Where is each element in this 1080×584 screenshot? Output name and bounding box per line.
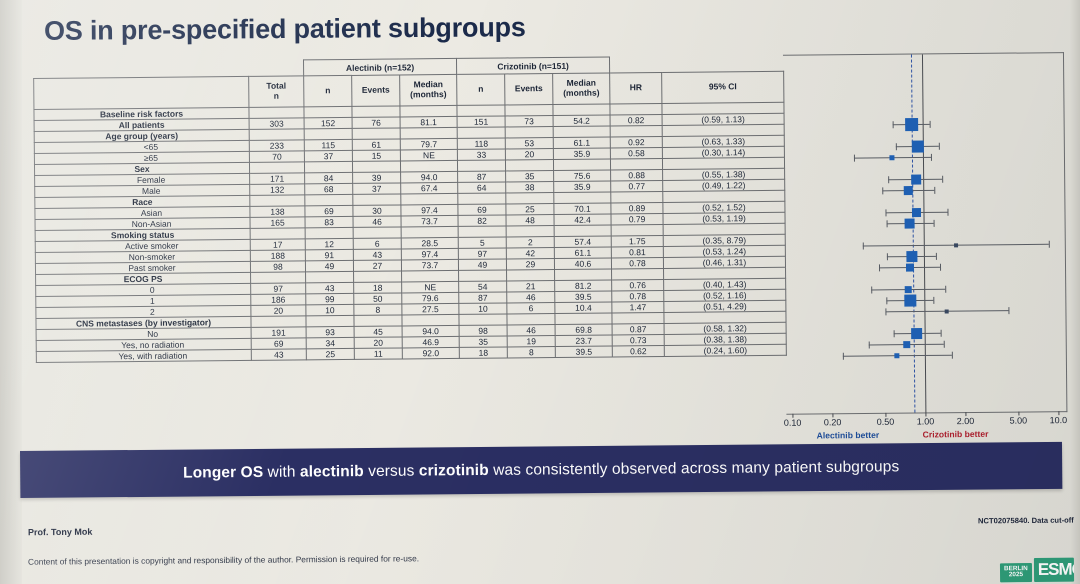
hr-header: HR [610, 72, 662, 103]
alectinib-arm-header: Alectinib (n=152) [303, 58, 456, 75]
alectinib-events-cell [352, 161, 400, 172]
hr-value-cell: 0.77 [611, 180, 663, 191]
hr-value-cell: 0.58 [610, 147, 662, 158]
alectinib-median-cell: 46.9 [402, 336, 459, 348]
alectinib-n-cell: 43 [306, 282, 354, 293]
alectinib-median-cell: 81.1 [400, 116, 457, 128]
alectinib-median-cell: 94.0 [402, 325, 459, 337]
alectinib-median-cell: NE [402, 281, 459, 293]
crizotinib-median-cell: 61.1 [553, 137, 610, 149]
ci-value-cell: (0.24, 1.60) [664, 344, 786, 356]
hr-value-cell: 0.82 [610, 114, 662, 125]
hr-value-cell: 0.73 [612, 334, 664, 345]
alectinib-events-cell: 50 [354, 293, 402, 304]
alectinib-n-header: n [304, 75, 352, 106]
crizotinib-n-cell: 69 [458, 204, 506, 215]
axis-tick-label: 1.00 [917, 416, 935, 426]
crizotinib-events-header: Events [505, 74, 553, 105]
alectinib-n-cell: 69 [305, 205, 353, 216]
alectinib-events-cell: 6 [353, 238, 401, 249]
alectinib-n-cell [304, 106, 352, 117]
hazard-ratio-marker [945, 310, 949, 314]
ci-cap-upper [935, 187, 936, 194]
alectinib-n-cell [305, 194, 353, 205]
ci-cap-lower [879, 265, 880, 272]
crizotinib-median-cell: 39.5 [555, 291, 612, 303]
total-n-cell: 171 [250, 173, 305, 185]
crizotinib-n-cell [459, 270, 507, 281]
hr-value-cell: 0.89 [611, 202, 663, 213]
berlin-2025-logo: BERLIN 2025 [1000, 563, 1032, 583]
crizotinib-median-cell: 54.2 [553, 115, 610, 127]
hazard-ratio-marker [904, 186, 913, 195]
hr-value-cell: 1.75 [611, 235, 663, 246]
hazard-ratio-marker [905, 118, 918, 131]
hr-value-cell: 1.47 [612, 301, 664, 312]
alectinib-events-cell: 45 [354, 326, 402, 337]
hr-value-cell [611, 191, 663, 202]
alectinib-n-cell [306, 271, 354, 282]
total-n-cell: 303 [249, 118, 304, 130]
alectinib-events-cell: 39 [353, 172, 401, 183]
ci-cap-lower [842, 353, 843, 360]
forest-marker-row [785, 213, 1065, 234]
crizotinib-n-header: n [457, 74, 505, 105]
crizotinib-median-cell [553, 126, 610, 138]
crizotinib-median-cell [554, 225, 611, 237]
alectinib-better-label: Alectinib better [817, 430, 880, 441]
alectinib-events-cell [354, 315, 402, 326]
alectinib-events-cell: 30 [353, 205, 401, 216]
forest-marker-row [785, 301, 1065, 322]
crizotinib-events-cell: 20 [505, 149, 553, 160]
total-n-cell: 186 [251, 294, 306, 306]
crizotinib-n-cell: 87 [459, 292, 507, 303]
alectinib-median-cell: 97.4 [401, 248, 458, 260]
crizotinib-median-cell: 10.4 [555, 302, 612, 314]
crizotinib-events-cell: 21 [507, 281, 555, 292]
total-n-cell: 188 [250, 250, 305, 262]
alectinib-n-cell [304, 128, 352, 139]
hr-value-cell: 0.88 [611, 169, 663, 180]
alectinib-median-cell: 94.0 [401, 171, 458, 183]
alectinib-median-cell [402, 270, 459, 282]
axis-tick-label: 5.00 [1010, 415, 1028, 425]
forest-marker-row [784, 147, 1064, 168]
crizotinib-n-cell: 98 [459, 325, 507, 336]
alectinib-n-cell: 83 [305, 216, 353, 227]
crizotinib-events-cell [505, 105, 553, 116]
crizotinib-events-cell: 2 [506, 237, 554, 248]
axis-tick-label: 0.50 [877, 417, 895, 427]
hr-value-cell: 0.79 [611, 213, 663, 224]
conclusion-banner: Longer OS with alectinib versus crizotin… [20, 442, 1062, 498]
total-n-header: Totaln [249, 76, 304, 108]
alectinib-median-cell: 79.6 [402, 292, 459, 304]
alectinib-events-cell: 46 [353, 216, 401, 227]
crizotinib-events-cell: 46 [507, 292, 555, 303]
crizotinib-events-cell: 38 [506, 182, 554, 193]
crizotinib-arm-header: Crizotinib (n=151) [457, 57, 610, 74]
ci-header: 95% CI [662, 71, 784, 103]
crizotinib-n-cell: 151 [457, 116, 505, 127]
crizotinib-median-cell: 61.1 [554, 247, 611, 259]
alectinib-n-cell [305, 227, 353, 238]
trial-id-footnote: NCT02075840. Data cut-off [978, 516, 1074, 526]
crizotinib-events-cell: 19 [507, 336, 555, 347]
forest-plot-area [783, 52, 1067, 415]
alectinib-events-cell [353, 227, 401, 238]
axis-tick-label: 0.10 [784, 418, 802, 428]
crizotinib-events-cell: 73 [505, 116, 553, 127]
crizotinib-n-cell: 64 [458, 182, 506, 193]
alectinib-median-cell: 28.5 [401, 237, 458, 249]
total-n-cell: 191 [251, 327, 306, 339]
alectinib-median-cell: 73.7 [401, 215, 458, 227]
crizotinib-median-cell: 35.9 [554, 181, 611, 193]
alectinib-n-cell: 37 [304, 150, 352, 161]
copyright-notice: Content of this presentation is copyrigh… [28, 553, 419, 566]
crizotinib-median-cell [554, 192, 611, 204]
congress-logos: BERLIN 2025 ESMO [1000, 558, 1074, 583]
ci-cap-lower [853, 155, 854, 162]
hr-value-cell: 0.87 [612, 323, 664, 334]
alectinib-median-cell: 27.5 [402, 303, 459, 315]
total-n-cell: 70 [249, 151, 304, 163]
crizotinib-events-cell: 48 [506, 215, 554, 226]
crizotinib-median-header: Median(months) [553, 73, 610, 105]
total-n-cell [250, 195, 305, 207]
alectinib-events-cell: 20 [354, 337, 402, 348]
total-n-cell: 17 [250, 239, 305, 251]
crizotinib-events-cell [506, 193, 554, 204]
hr-value-cell: 0.78 [611, 257, 663, 268]
axis-tick-label: 2.00 [957, 416, 975, 426]
crizotinib-n-cell [458, 193, 506, 204]
forest-marker-row [784, 114, 1064, 135]
total-n-cell [249, 107, 304, 119]
alectinib-n-cell: 68 [305, 183, 353, 194]
crizotinib-events-cell: 35 [506, 171, 554, 182]
crizotinib-n-cell [459, 314, 507, 325]
alectinib-n-cell: 115 [304, 139, 352, 150]
total-n-cell [249, 162, 304, 174]
ci-cap-upper [930, 121, 931, 128]
crizotinib-n-cell: 35 [459, 336, 507, 347]
esmo-logo: ESMO [1034, 558, 1074, 582]
alectinib-median-cell [401, 193, 458, 205]
total-n-cell [251, 316, 306, 328]
hr-value-cell [610, 125, 662, 136]
alectinib-median-cell: NE [400, 149, 457, 161]
alectinib-events-cell: 43 [353, 249, 401, 260]
crizotinib-median-cell: 39.5 [555, 346, 612, 358]
crizotinib-median-cell: 69.8 [555, 324, 612, 336]
crizotinib-better-label: Crizotinib better [923, 429, 989, 440]
crizotinib-events-cell: 42 [506, 248, 554, 259]
crizotinib-n-cell: 18 [459, 347, 507, 358]
row-label: Yes, with radiation [36, 349, 251, 362]
crizotinib-events-cell: 8 [507, 346, 555, 357]
total-n-cell: 233 [249, 140, 304, 152]
ci-cap-upper [930, 154, 931, 161]
forest-plot-figure: Alectinib (n=152)Crizotinib (n=151)Total… [33, 52, 1066, 422]
ci-cap-lower [887, 221, 888, 228]
left-edge-shadow [0, 0, 22, 584]
axis-tick-label: 0.20 [824, 417, 842, 427]
total-n-cell: 132 [250, 184, 305, 196]
alectinib-events-cell: 37 [353, 183, 401, 194]
hr-value-cell [612, 312, 664, 323]
hr-value-cell: 0.62 [612, 345, 664, 356]
total-n-cell [249, 129, 304, 141]
total-n-cell: 97 [251, 283, 306, 295]
alectinib-n-cell [306, 315, 354, 326]
hr-value-cell: 0.81 [611, 246, 663, 257]
subgroup-table: Alectinib (n=152)Crizotinib (n=151)Total… [33, 55, 787, 363]
alectinib-n-cell: 93 [306, 326, 354, 337]
hazard-ratio-marker [895, 353, 900, 358]
total-n-cell: 138 [250, 206, 305, 218]
crizotinib-median-cell: 23.7 [555, 335, 612, 347]
hazard-ratio-marker [906, 264, 914, 272]
alectinib-events-cell: 18 [354, 282, 402, 293]
alectinib-n-cell: 99 [306, 293, 354, 304]
alectinib-n-cell [304, 161, 352, 172]
ci-cap-upper [934, 220, 935, 227]
crizotinib-n-cell: 82 [458, 215, 506, 226]
alectinib-median-cell: 67.4 [401, 182, 458, 194]
crizotinib-n-cell [458, 226, 506, 237]
hazard-ratio-marker [905, 219, 915, 229]
crizotinib-n-cell: 54 [459, 281, 507, 292]
alectinib-events-cell [353, 194, 401, 205]
alectinib-events-cell [352, 128, 400, 139]
crizotinib-median-cell: 75.6 [554, 170, 611, 182]
crizotinib-n-cell: 87 [458, 171, 506, 182]
crizotinib-median-cell [555, 313, 612, 325]
alectinib-events-header: Events [352, 75, 400, 106]
crizotinib-median-cell: 81.2 [555, 280, 612, 292]
alectinib-events-cell [354, 271, 402, 282]
crizotinib-n-cell [457, 160, 505, 171]
alectinib-events-cell: 11 [354, 348, 402, 359]
crizotinib-n-cell: 33 [457, 149, 505, 160]
alectinib-n-cell: 10 [306, 304, 354, 315]
crizotinib-n-cell [457, 105, 505, 116]
hr-value-cell [610, 158, 662, 169]
crizotinib-events-cell [505, 160, 553, 171]
slide-canvas: OS in pre-specified patient subgroups Al… [0, 0, 1080, 584]
alectinib-median-cell: 92.0 [402, 347, 459, 359]
total-n-cell [251, 272, 306, 284]
crizotinib-n-cell: 10 [459, 303, 507, 314]
total-n-cell: 43 [251, 349, 306, 361]
crizotinib-events-cell: 29 [506, 259, 554, 270]
crizotinib-median-cell: 35.9 [553, 148, 610, 160]
total-n-cell: 165 [250, 217, 305, 229]
crizotinib-n-cell: 118 [457, 138, 505, 149]
crizotinib-median-cell: 42.4 [554, 214, 611, 226]
page-title: OS in pre-specified patient subgroups [44, 12, 526, 47]
alectinib-median-cell [400, 160, 457, 172]
presenter-name: Prof. Tony Mok [28, 527, 92, 538]
crizotinib-median-cell [553, 104, 610, 116]
crizotinib-n-cell: 97 [458, 248, 506, 259]
crizotinib-n-cell [457, 127, 505, 138]
alectinib-events-cell: 15 [352, 150, 400, 161]
crizotinib-median-cell: 70.1 [554, 203, 611, 215]
alectinib-median-cell [400, 127, 457, 139]
alectinib-n-cell: 49 [305, 260, 353, 271]
axis-tick-label: 10.0 [1050, 415, 1068, 425]
alectinib-events-cell: 76 [352, 117, 400, 128]
alectinib-n-cell: 25 [306, 348, 354, 359]
hr-value-cell [611, 224, 663, 235]
crizotinib-events-cell [507, 270, 555, 281]
alectinib-median-cell: 97.4 [401, 204, 458, 216]
crizotinib-events-cell [506, 226, 554, 237]
alectinib-n-cell: 84 [305, 172, 353, 183]
total-n-cell: 20 [251, 305, 306, 317]
alectinib-events-cell: 61 [352, 139, 400, 150]
alectinib-median-header: Median(months) [400, 74, 457, 106]
crizotinib-events-cell [505, 127, 553, 138]
row-label-header [34, 76, 249, 109]
ci-cap-upper [952, 352, 953, 359]
alectinib-median-cell: 73.7 [401, 259, 458, 271]
crizotinib-n-cell: 5 [458, 237, 506, 248]
ci-cap-lower [892, 122, 893, 129]
crizotinib-median-cell: 40.6 [554, 258, 611, 270]
forest-marker-row [786, 345, 1066, 366]
crizotinib-events-cell [507, 314, 555, 325]
crizotinib-n-cell: 49 [458, 259, 506, 270]
forest-marker-row [784, 180, 1064, 201]
crizotinib-median-cell [553, 159, 610, 171]
alectinib-n-cell: 34 [306, 337, 354, 348]
alectinib-median-cell [400, 105, 457, 117]
ci-cap-upper [940, 264, 941, 271]
alectinib-events-cell: 8 [354, 304, 402, 315]
conclusion-text: Longer OS with alectinib versus crizotin… [183, 458, 899, 482]
hazard-ratio-marker [889, 156, 894, 161]
crizotinib-events-cell: 46 [507, 325, 555, 336]
crizotinib-events-cell: 6 [507, 303, 555, 314]
total-n-cell: 98 [250, 261, 305, 273]
alectinib-n-cell: 152 [304, 117, 352, 128]
crizotinib-events-cell: 25 [506, 204, 554, 215]
hr-value-cell: 0.92 [610, 136, 662, 147]
ci-cap-lower [882, 188, 883, 195]
total-n-cell [250, 228, 305, 240]
alectinib-median-cell: 79.7 [400, 138, 457, 150]
hr-value-cell: 0.76 [612, 279, 664, 290]
total-n-cell: 69 [251, 338, 306, 350]
right-edge-shadow [1070, 0, 1080, 584]
ci-cap-upper [1008, 307, 1009, 314]
crizotinib-events-cell: 53 [505, 138, 553, 149]
alectinib-median-cell [401, 226, 458, 238]
forest-marker-row [785, 257, 1065, 278]
hr-value-cell: 0.78 [612, 290, 664, 301]
alectinib-events-cell [352, 106, 400, 117]
alectinib-n-cell: 12 [305, 238, 353, 249]
ci-cap-lower [886, 309, 887, 316]
hr-value-cell [612, 268, 664, 279]
crizotinib-median-cell: 57.4 [554, 236, 611, 248]
hr-value-cell [610, 103, 662, 114]
alectinib-n-cell: 91 [305, 249, 353, 260]
crizotinib-median-cell [555, 269, 612, 281]
alectinib-events-cell: 27 [353, 260, 401, 271]
alectinib-median-cell [402, 314, 459, 326]
